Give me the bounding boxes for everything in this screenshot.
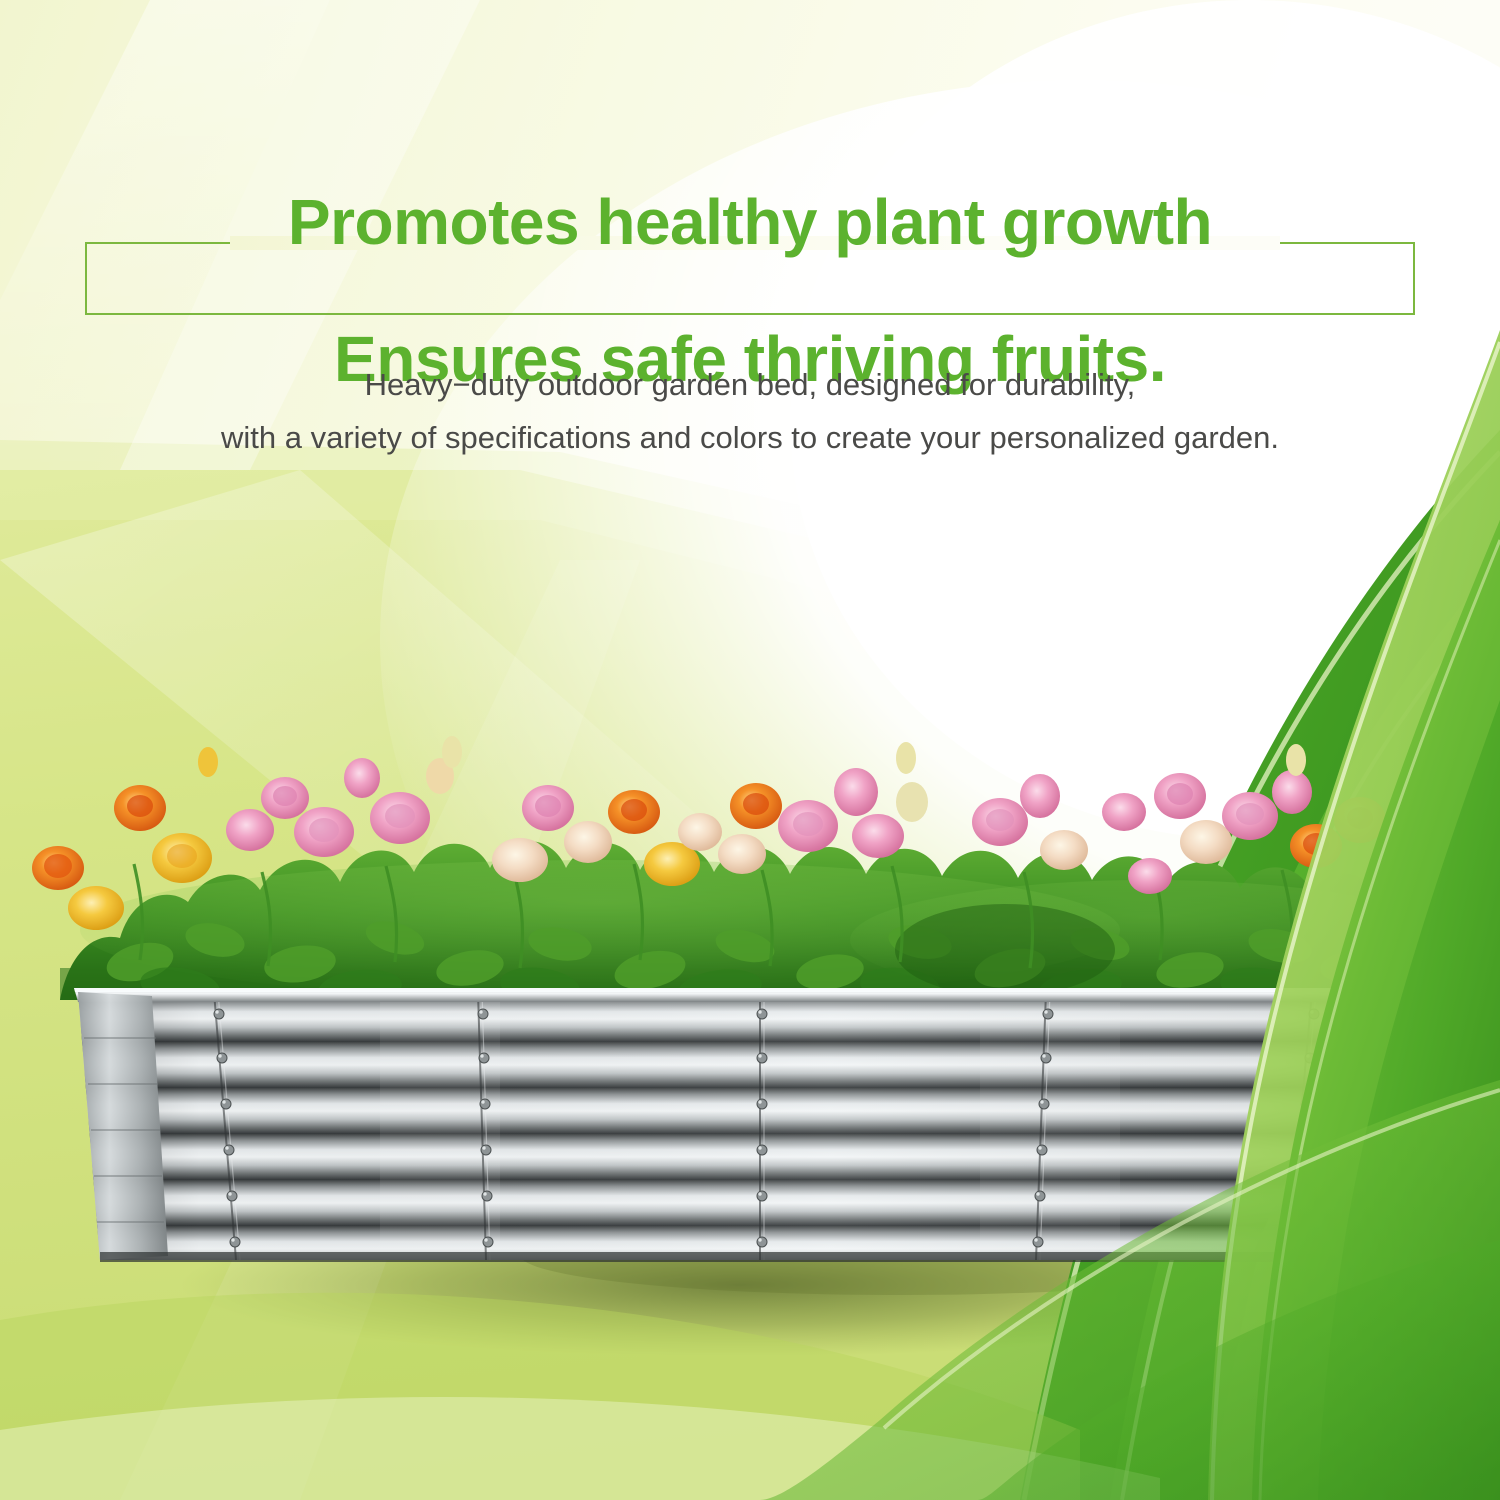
garden-bed-illustration — [0, 700, 1500, 1320]
subtitle-line-2: with a variety of specifications and col… — [0, 411, 1500, 464]
product-photo-raised-garden-bed — [0, 700, 1500, 1320]
headline-line-1: Promotes healthy plant growth — [0, 188, 1500, 256]
corrugated-planter — [60, 988, 1460, 1280]
subtitle: Heavy−duty outdoor garden bed, designed … — [0, 358, 1500, 465]
subtitle-line-1: Heavy−duty outdoor garden bed, designed … — [0, 358, 1500, 411]
header-text-block: Promotes healthy plant growth Ensures sa… — [0, 0, 1500, 500]
product-marketing-image: Promotes healthy plant growth Ensures sa… — [0, 0, 1500, 1500]
